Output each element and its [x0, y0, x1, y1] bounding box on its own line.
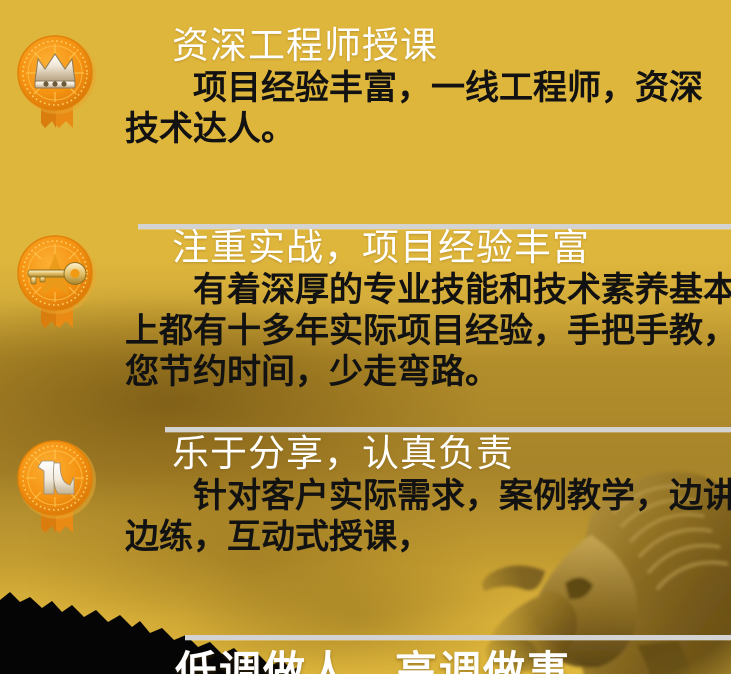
section-1-text: 资深工程师授课 项目经验丰富，一线工程师，资深技术达人。	[125, 24, 731, 150]
section-1-headline: 资深工程师授课	[172, 24, 731, 68]
section-2: 注重实战，项目经验丰富 有着深厚的专业技能和技术素养基本上都有十多年实际项目经验…	[0, 228, 731, 424]
crown-medal-icon	[8, 32, 106, 136]
section-2-text: 注重实战，项目经验丰富 有着深厚的专业技能和技术素养基本上都有十多年实际项目经验…	[125, 226, 731, 393]
section-3-text: 乐于分享，认真负责 针对客户实际需求，案例教学，边讲边练，互动式授课，	[125, 432, 731, 558]
key-medal-icon	[8, 232, 106, 336]
section-1: 资深工程师授课 项目经验丰富，一线工程师，资深技术达人。	[0, 0, 731, 215]
section-2-body: 有着深厚的专业技能和技术素养基本上都有十多年实际项目经验，手把手教，您节约时间，…	[125, 270, 731, 393]
section-1-body: 项目经验丰富，一线工程师，资深技术达人。	[125, 68, 731, 150]
arrow-medal-icon	[8, 437, 106, 541]
section-2-headline: 注重实战，项目经验丰富	[172, 226, 731, 270]
divider-3	[185, 635, 731, 640]
section-3-body: 针对客户实际需求，案例教学，边讲边练，互动式授课，	[125, 476, 731, 558]
bottom-headline: 低调做人，高调做事	[175, 648, 571, 674]
section-3-headline: 乐于分享，认真负责	[172, 432, 731, 476]
section-3: 乐于分享，认真负责 针对客户实际需求，案例教学，边讲边练，互动式授课，	[0, 432, 731, 632]
promo-poster: 资深工程师授课 项目经验丰富，一线工程师，资深技术达人。	[0, 0, 731, 674]
